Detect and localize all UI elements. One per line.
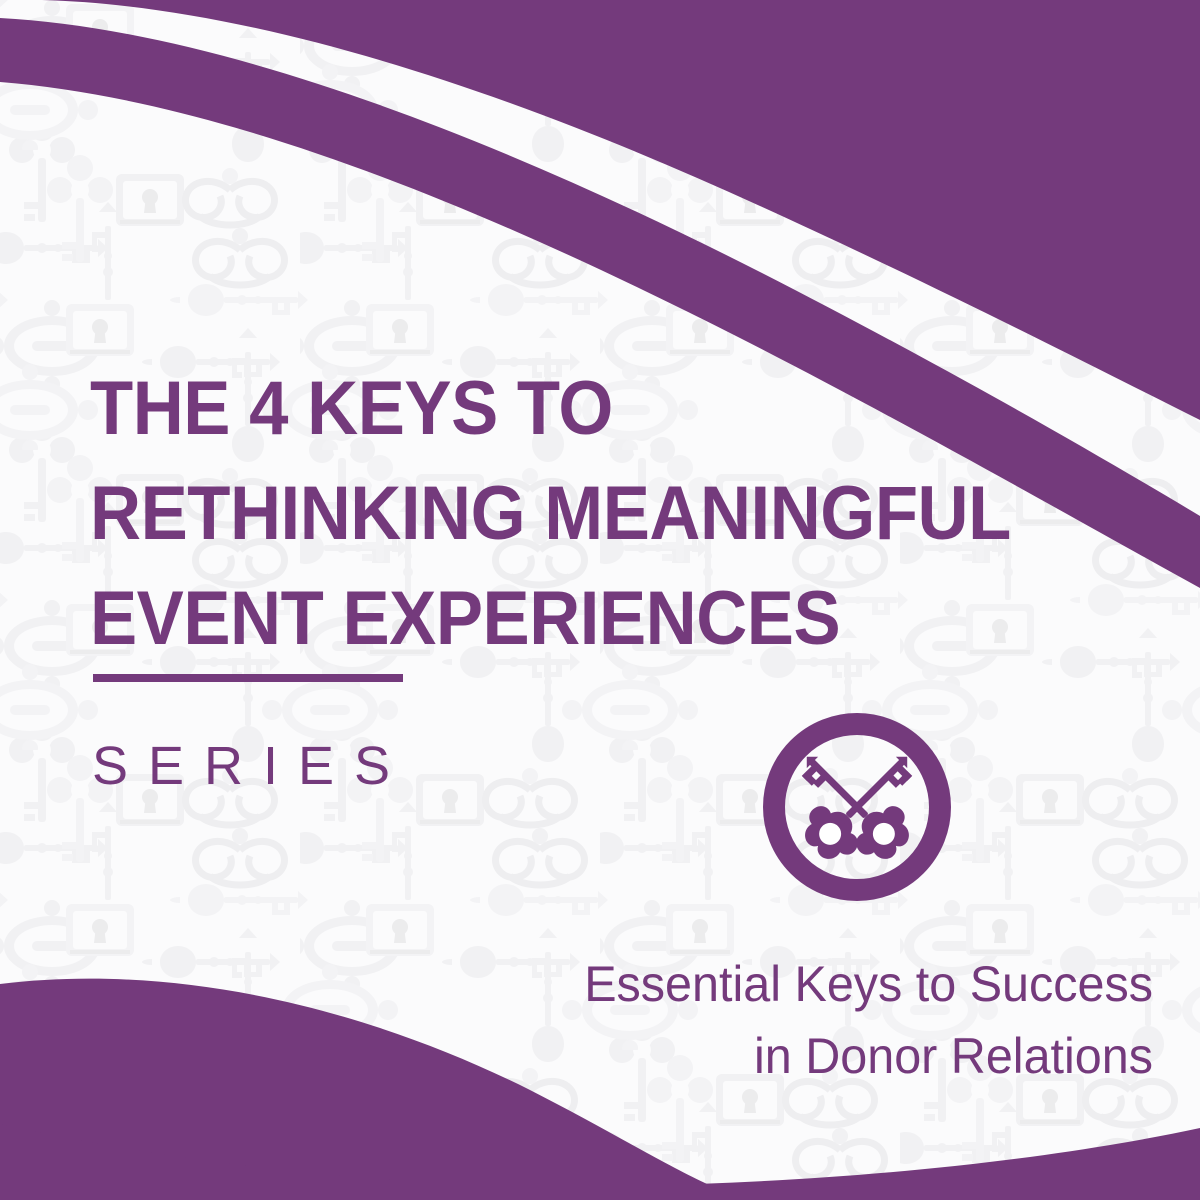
poster-canvas: THE 4 KEYS TO RETHINKING MEANINGFUL EVEN… — [0, 0, 1200, 1200]
headline-line-1: THE 4 KEYS TO — [90, 356, 1076, 461]
tagline-line-1: Essential Keys to Success — [474, 948, 1153, 1020]
page-title: THE 4 KEYS TO RETHINKING MEANINGFUL EVEN… — [90, 356, 1076, 671]
tagline: Essential Keys to Success in Donor Relat… — [474, 948, 1153, 1092]
title-divider — [93, 674, 403, 682]
tagline-line-2: in Donor Relations — [474, 1020, 1153, 1092]
headline-line-3: EVENT EXPERIENCES — [90, 566, 1076, 671]
series-label: SERIES — [92, 735, 410, 797]
poster-content: THE 4 KEYS TO RETHINKING MEANINGFUL EVEN… — [0, 0, 1200, 1200]
headline-line-2: RETHINKING MEANINGFUL — [90, 461, 1076, 566]
crossed-keys-in-circle-icon — [762, 712, 952, 902]
